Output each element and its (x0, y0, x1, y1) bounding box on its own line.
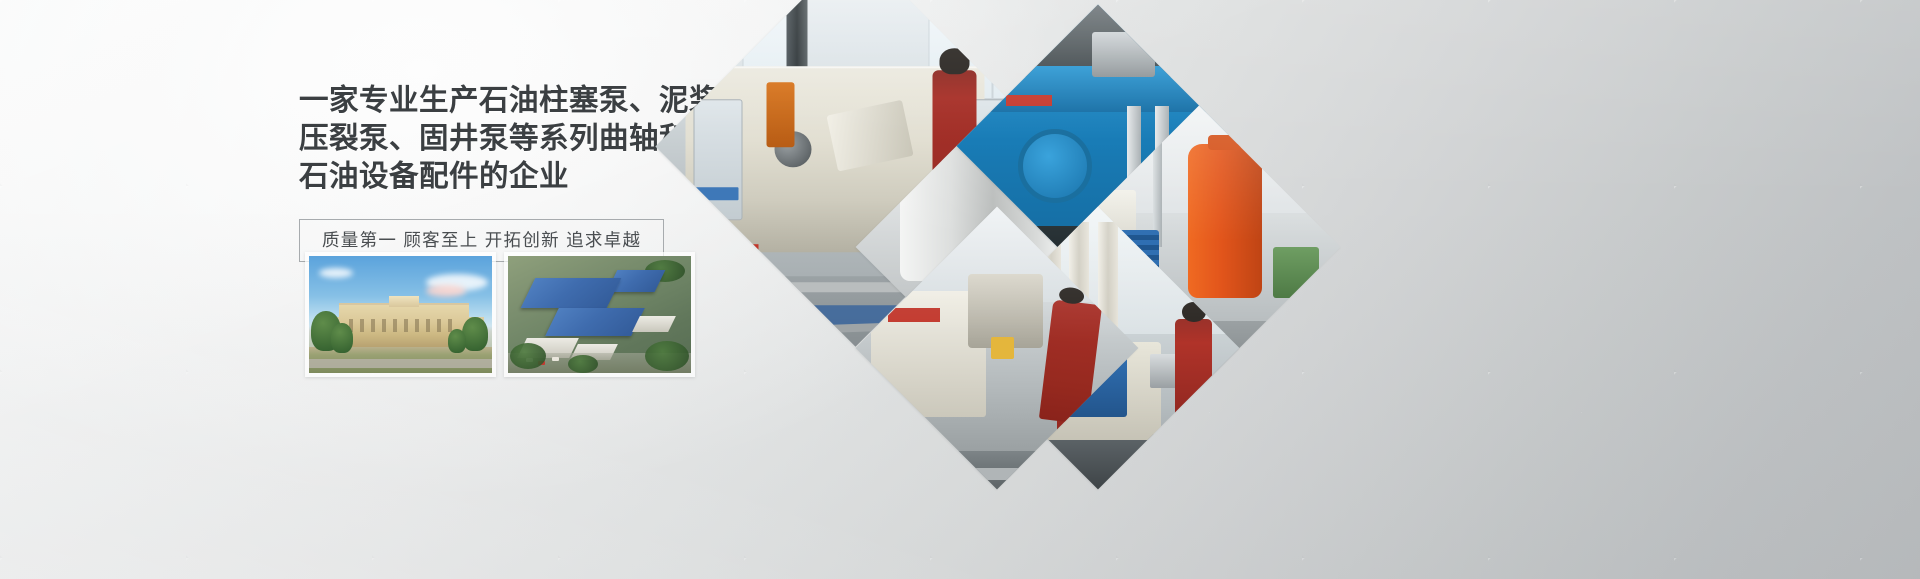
factory-roof (545, 308, 645, 336)
worker-orange (767, 82, 795, 147)
factory-aerial-image (508, 256, 691, 373)
car-shape (552, 357, 559, 361)
machine-label (694, 187, 738, 199)
machine-label (888, 308, 939, 322)
headline-line-1: 一家专业生产石油柱塞泵、泥浆泵、 (299, 82, 719, 120)
tree-shape (448, 329, 466, 353)
yellow-guard (991, 337, 1014, 360)
photo-thumbnail-row (305, 252, 695, 377)
tree-shape (462, 317, 488, 351)
orange-storage-tank (1188, 144, 1262, 298)
warning-label (734, 243, 758, 259)
factory-roof (521, 278, 622, 308)
machine-label (1006, 95, 1052, 106)
photo-factory-aerial (504, 252, 695, 377)
photo-office-building (305, 252, 496, 377)
office-block (632, 316, 676, 332)
cloud-shape (426, 285, 466, 297)
office-building-image (309, 256, 492, 373)
cloud-shape (319, 268, 353, 278)
hero-headline: 一家专业生产石油柱塞泵、泥浆泵、 压裂泵、固井泵等系列曲轴和其他 石油设备配件的… (299, 82, 719, 196)
company-hero-banner: 一家专业生产石油柱塞泵、泥浆泵、 压裂泵、固井泵等系列曲轴和其他 石油设备配件的… (0, 0, 1920, 579)
hero-copy-block: 一家专业生产石油柱塞泵、泥浆泵、 压裂泵、固井泵等系列曲轴和其他 石油设备配件的… (299, 82, 719, 262)
headline-line-3: 石油设备配件的企业 (299, 158, 719, 196)
vegetation (510, 343, 546, 369)
road-strip (309, 359, 492, 368)
hand-wheel (1018, 129, 1092, 203)
diamond-photo-collage (694, 44, 1294, 404)
vegetation (645, 341, 689, 371)
machine-door (694, 98, 742, 219)
tree-shape (331, 323, 353, 353)
headline-line-2: 压裂泵、固井泵等系列曲轴和其他 (299, 120, 719, 158)
machined-part (1150, 354, 1179, 388)
tagline-text: 质量第一 顾客至上 开拓创新 追求卓越 (322, 229, 641, 251)
vegetation (568, 355, 598, 373)
